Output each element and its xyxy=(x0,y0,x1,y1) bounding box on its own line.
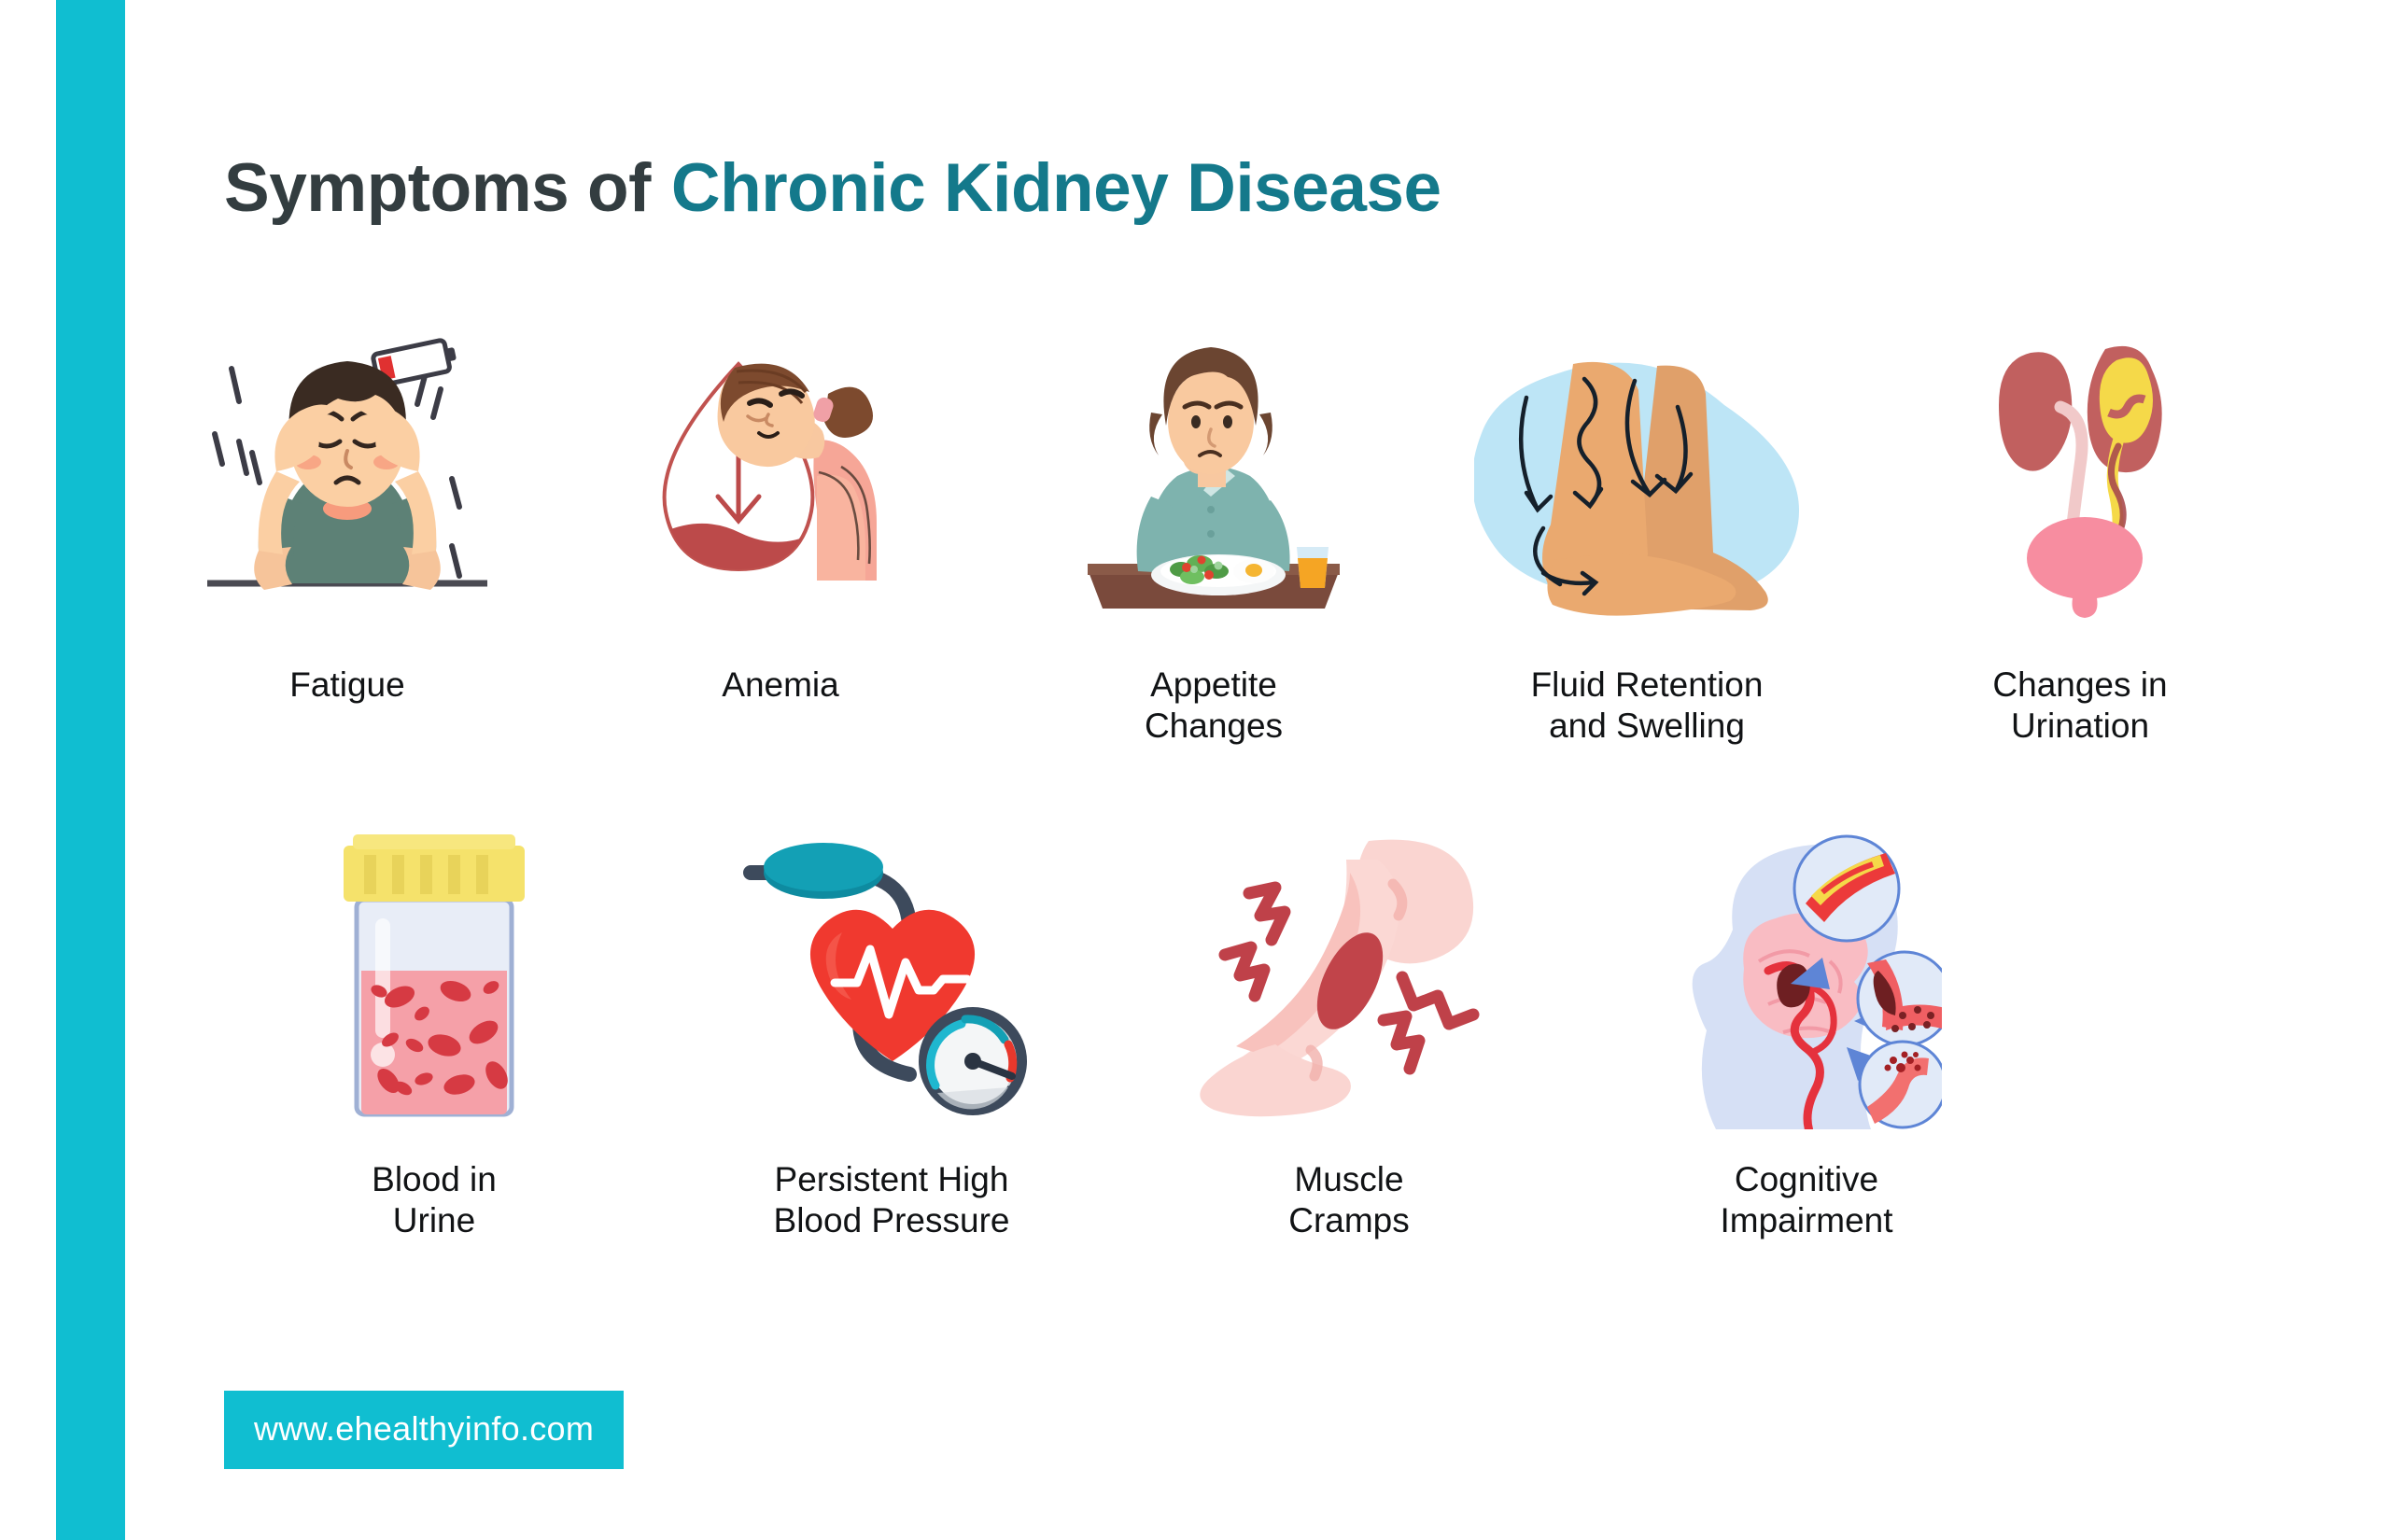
symptom-card-appetite-changes[interactable]: Appetite Changes xyxy=(997,327,1430,746)
symptom-card-cognitive-impairment[interactable]: Cognitive Impairment xyxy=(1578,821,2035,1240)
illustration-muscle-cramps xyxy=(1120,821,1578,1139)
symptom-label-muscle-cramps: Muscle Cramps xyxy=(1288,1159,1410,1240)
symptom-label-high-blood-pressure: Persistent High Blood Pressure xyxy=(774,1159,1010,1240)
symptom-card-fluid-retention[interactable]: Fluid Retention and Swelling xyxy=(1430,327,1863,746)
illustration-cognitive-impairment xyxy=(1578,821,2035,1139)
symptom-row-2: Blood in Urine xyxy=(205,821,2035,1240)
symptom-label-cognitive-impairment: Cognitive Impairment xyxy=(1720,1159,1892,1240)
illustration-fatigue xyxy=(131,327,564,644)
symptom-label-fluid-retention: Fluid Retention and Swelling xyxy=(1531,665,1764,746)
website-url-badge[interactable]: www.ehealthyinfo.com xyxy=(224,1391,624,1469)
illustration-changes-in-urination xyxy=(1863,327,2297,644)
symptom-label-anemia: Anemia xyxy=(722,665,838,706)
page-title: Symptoms ofChronic Kidney Disease xyxy=(224,149,1441,227)
symptom-card-blood-in-urine[interactable]: Blood in Urine xyxy=(205,821,663,1240)
symptom-card-changes-in-urination[interactable]: Changes in Urination xyxy=(1863,327,2297,746)
symptom-label-fatigue: Fatigue xyxy=(289,665,404,706)
illustration-blood-in-urine xyxy=(205,821,663,1139)
symptom-card-anemia[interactable]: Anemia xyxy=(564,327,997,746)
illustration-anemia xyxy=(564,327,997,644)
symptom-card-muscle-cramps[interactable]: Muscle Cramps xyxy=(1120,821,1578,1240)
illustration-high-blood-pressure xyxy=(663,821,1120,1139)
symptom-row-1: Fatigue xyxy=(131,327,2297,746)
page-title-part2: Chronic Kidney Disease xyxy=(671,150,1441,226)
symptom-label-changes-in-urination: Changes in Urination xyxy=(1992,665,2167,746)
symptom-label-appetite-changes: Appetite Changes xyxy=(1145,665,1283,746)
left-accent-bar xyxy=(56,0,125,1540)
page-title-part1: Symptoms of xyxy=(224,150,651,226)
symptom-card-high-blood-pressure[interactable]: Persistent High Blood Pressure xyxy=(663,821,1120,1240)
illustration-appetite-changes xyxy=(997,327,1430,644)
symptom-label-blood-in-urine: Blood in Urine xyxy=(372,1159,497,1240)
symptom-card-fatigue[interactable]: Fatigue xyxy=(131,327,564,746)
illustration-fluid-retention xyxy=(1430,327,1863,644)
